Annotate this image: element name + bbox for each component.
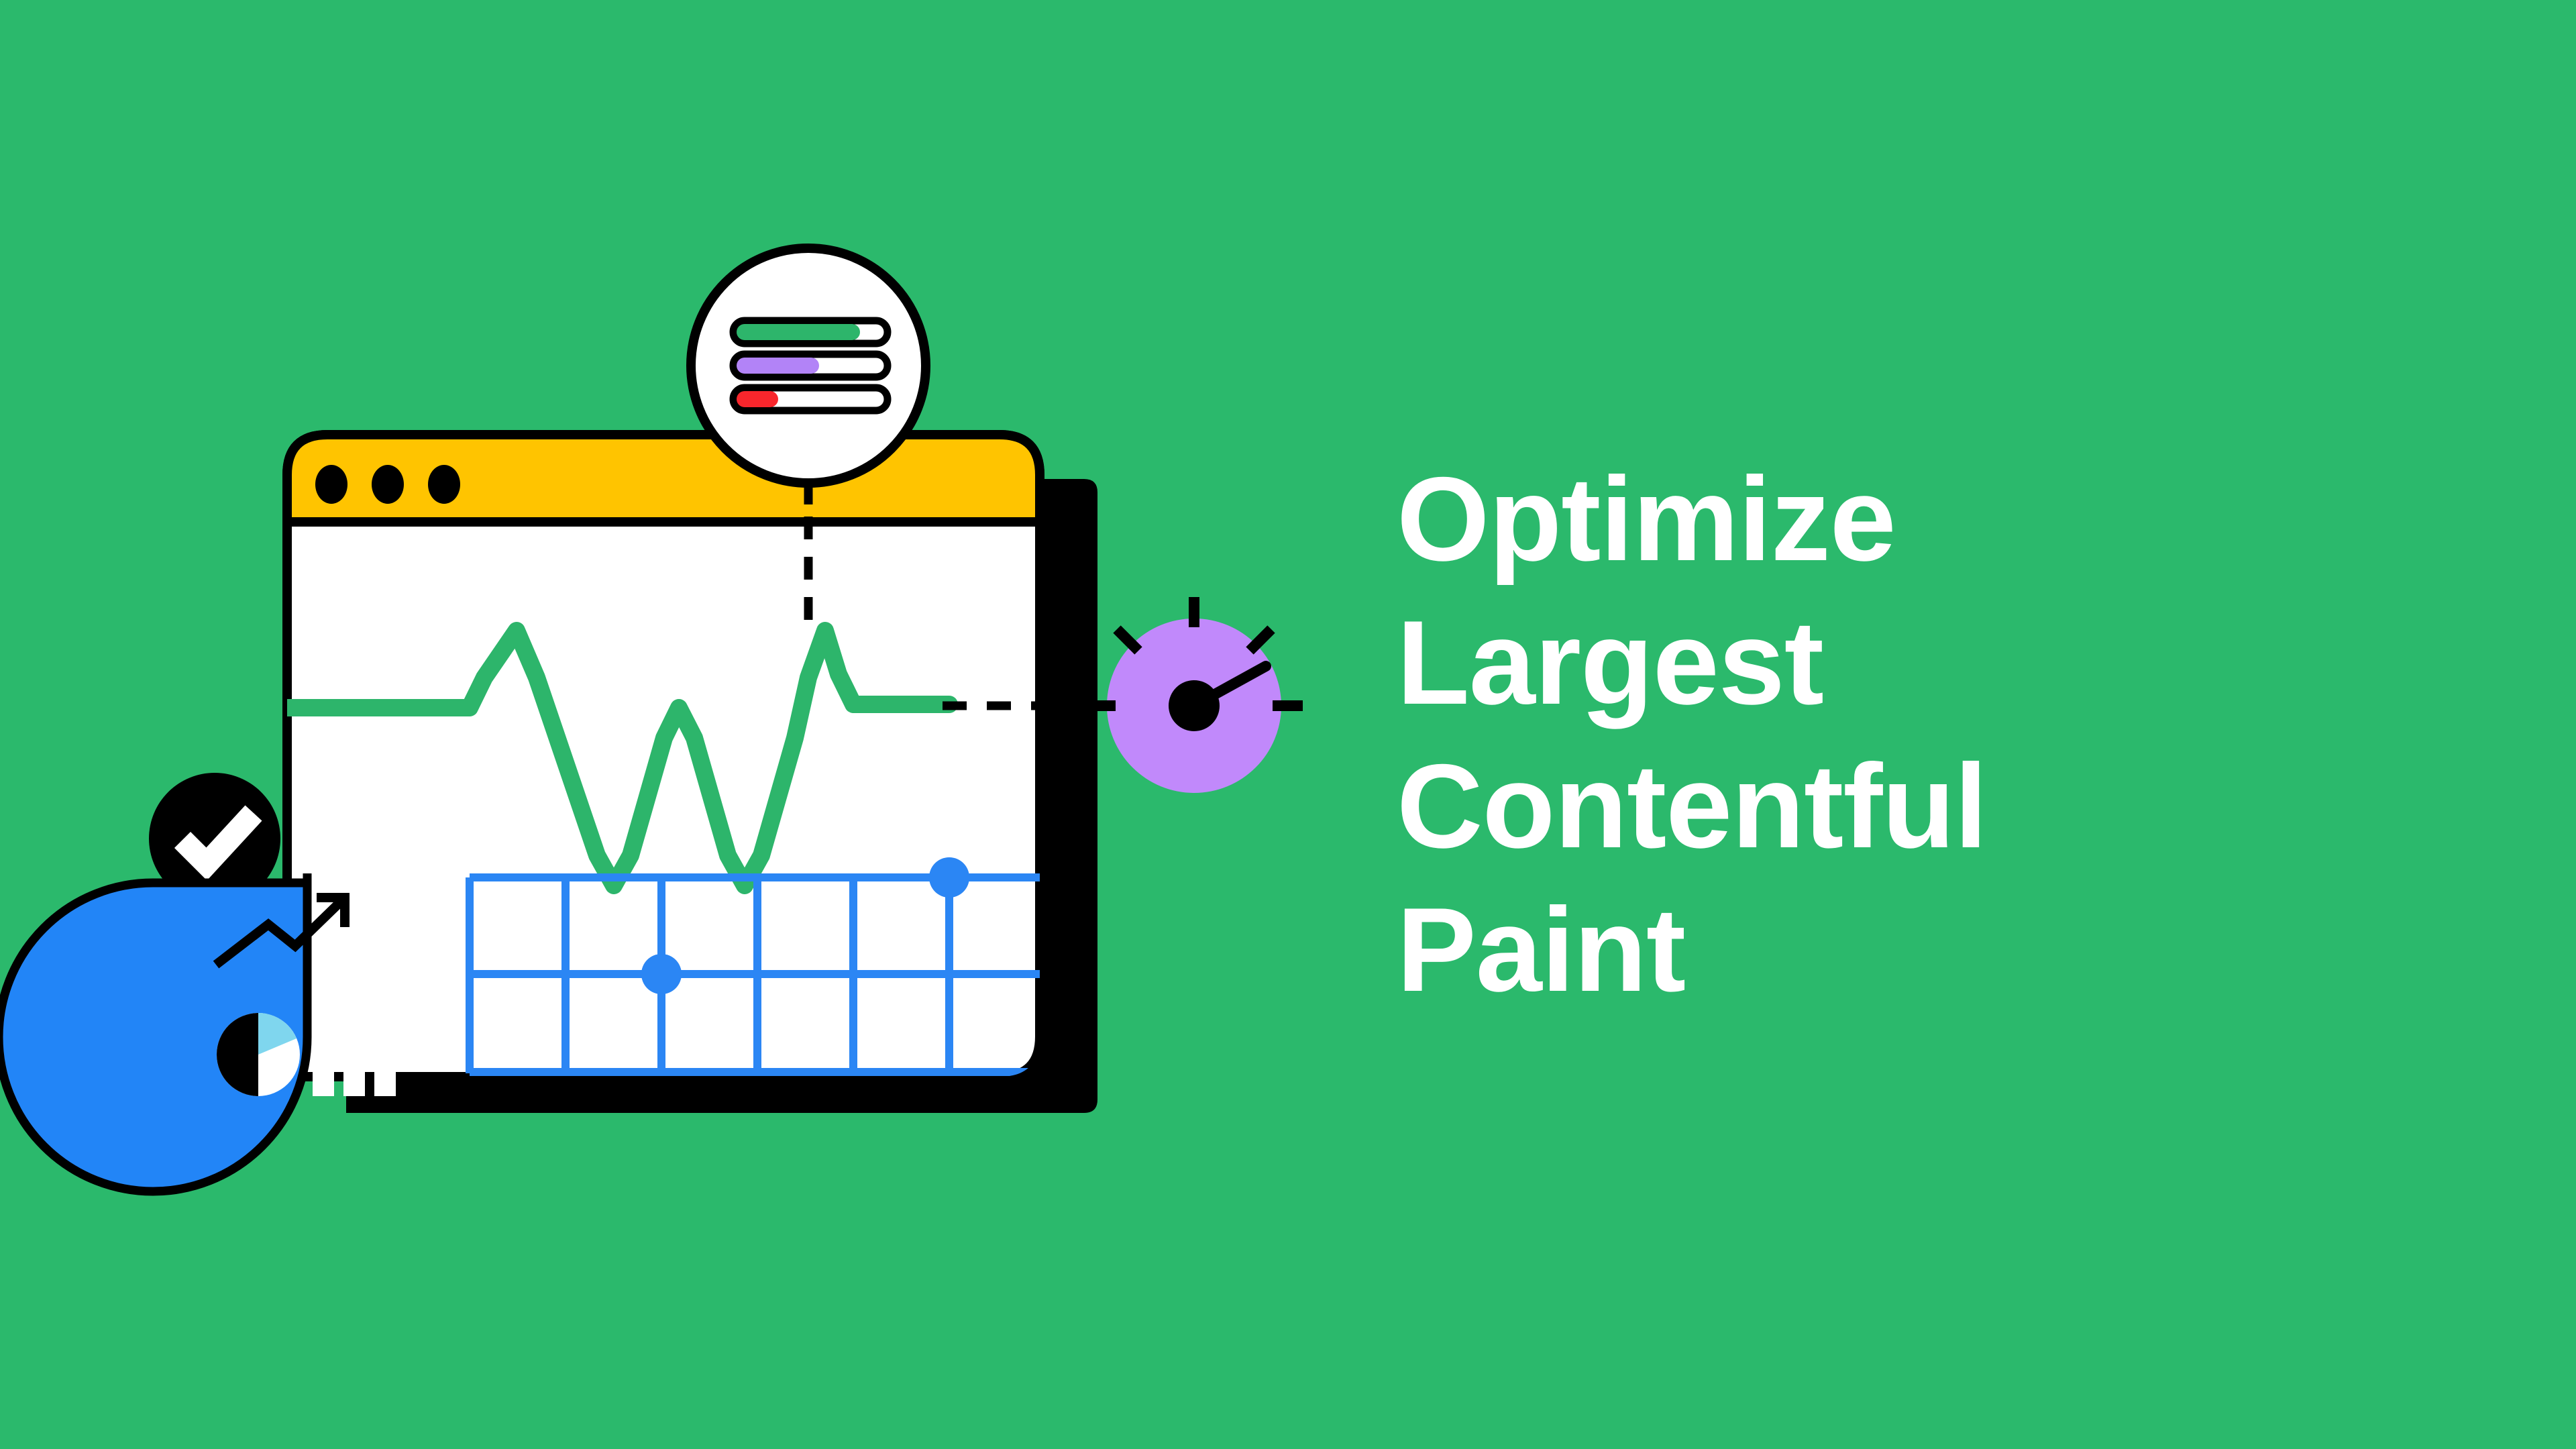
traffic-light-2[interactable] xyxy=(372,465,404,504)
browser-window-mockup[interactable] xyxy=(280,435,1097,1113)
headline-line-1: Optimize xyxy=(1397,447,2336,591)
gauge-hub xyxy=(1169,680,1220,731)
metrics-bar-violet xyxy=(733,354,888,377)
data-point-2[interactable] xyxy=(929,857,969,898)
bar-2 xyxy=(343,1018,365,1096)
pie-chart-icon xyxy=(217,1013,300,1096)
headline-line-2: Largest xyxy=(1397,591,2336,735)
metrics-bar-violet-fill xyxy=(737,358,819,374)
traffic-light-1[interactable] xyxy=(315,465,347,504)
traffic-light-3[interactable] xyxy=(428,465,460,504)
poster-canvas: Optimize Largest Contentful Paint xyxy=(0,0,2576,1449)
data-point-1[interactable] xyxy=(641,954,682,994)
headline-line-4: Paint xyxy=(1397,878,2336,1022)
metrics-bar-green xyxy=(733,321,888,343)
bar-1 xyxy=(313,1041,334,1096)
metrics-bar-red-fill xyxy=(737,391,778,407)
metrics-bar-green-fill xyxy=(737,324,860,340)
headline-line-3: Contentful xyxy=(1397,735,2336,878)
metrics-bubble[interactable] xyxy=(691,248,926,483)
page-title: Optimize Largest Contentful Paint xyxy=(1397,447,2336,1022)
metrics-bar-red xyxy=(733,388,888,411)
bar-3 xyxy=(374,994,396,1096)
